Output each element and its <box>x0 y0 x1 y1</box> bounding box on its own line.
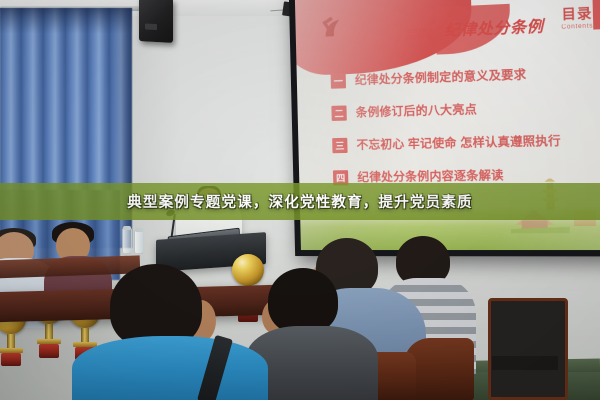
contents-accent-bar <box>592 0 600 30</box>
list-item: 二 条例修订后的八大亮点 <box>331 98 588 121</box>
slide-kicker: 2018年新修订 中国共产党 <box>405 27 439 41</box>
screenshot-root: 2018年新修订 中国共产党 纪律处分条例 目录 Contents 一 纪律处分… <box>0 0 600 400</box>
trophy-stem <box>7 334 14 348</box>
water-bottle <box>122 228 132 254</box>
trophy-stem <box>45 324 52 339</box>
toc-number: 一 <box>331 73 346 89</box>
contents-label-cn: 目录 <box>561 2 593 23</box>
chair-seat <box>492 356 558 370</box>
hammer-and-sickle-icon <box>317 13 358 45</box>
bottle-cap <box>135 228 143 232</box>
trophy-base <box>1 353 20 366</box>
contents-badge: 目录 Contents <box>561 2 593 31</box>
speaker-grill <box>145 23 157 30</box>
trophy-base <box>39 344 58 358</box>
slide-kicker-line2: 中国共产党 <box>405 34 439 42</box>
chair <box>488 298 568 400</box>
curtain-shadow <box>0 8 132 34</box>
toc-text: 不忘初心 牢记使命 怎样认真遵照执行 <box>356 132 561 153</box>
trophy-ball <box>232 254 264 286</box>
list-item: 三 不忘初心 牢记使命 怎样认真遵照执行 <box>332 131 590 153</box>
bottle-cap <box>123 226 131 230</box>
audience-member-blue-tshirt <box>72 336 268 400</box>
caption-text: 典型案例专题党课，深化党性教育，提升党员素质 <box>127 191 472 212</box>
person-head <box>268 268 338 334</box>
caption-band: 典型案例专题党课，深化党性教育，提升党员素质 <box>0 183 600 220</box>
trophy-stem <box>81 328 88 342</box>
contents-label-en: Contents <box>561 23 593 31</box>
toc-text: 条例修订后的八大亮点 <box>356 101 478 121</box>
water-bottle <box>134 230 144 254</box>
toc-number: 三 <box>332 137 347 152</box>
slide-title: 纪律处分条例 <box>444 15 544 41</box>
toc-number: 二 <box>331 105 346 121</box>
ceiling-speaker-icon <box>139 0 173 43</box>
